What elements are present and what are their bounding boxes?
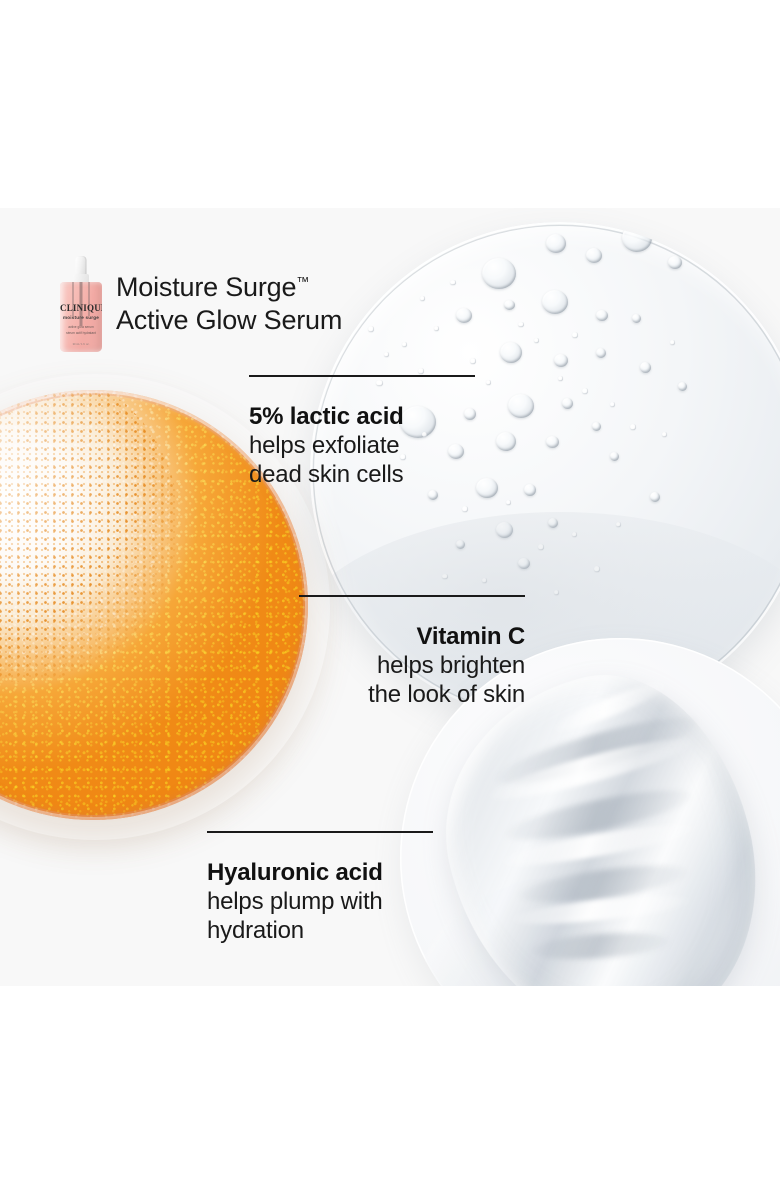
bottle-product-label: moisture surge [60,316,102,321]
bottle-brand-label: CLINIQUE [60,304,102,313]
content-stage: CLINIQUE moisture surge active glow seru… [0,208,780,986]
serum-bottle-image: CLINIQUE moisture surge active glow seru… [60,256,102,352]
product-title-line2: Active Glow Serum [116,305,342,335]
callout-title: Hyaluronic acid [207,859,433,888]
product-infographic: CLINIQUE moisture surge active glow seru… [0,0,780,1196]
callout-divider [299,595,525,597]
callout-desc-line1: helps plump with [207,888,433,917]
bottle-cap [76,256,87,276]
callout-title: 5% lactic acid [249,403,475,432]
bottle-sub-label-fr: sérum actif hydratant [60,332,102,335]
callout-divider [249,375,475,377]
callout-desc-line1: helps exfoliate [249,432,475,461]
trademark-symbol: ™ [296,274,309,289]
bottle-body: CLINIQUE moisture surge active glow seru… [60,282,102,352]
product-header: CLINIQUE moisture surge active glow seru… [60,256,342,352]
callout-desc-line2: dead skin cells [249,461,475,490]
callout-hyaluronic-acid: Hyaluronic acid helps plump with hydrati… [207,831,433,945]
product-title: Moisture Surge™ Active Glow Serum [116,271,342,338]
bottle-sub-label-en: active glow serum [60,326,102,329]
callout-divider [207,831,433,833]
callout-lactic-acid: 5% lactic acid helps exfoliate dead skin… [249,375,475,489]
bottle-volume-label: 30 ml / 1 fl. oz. [60,344,102,347]
callout-title: Vitamin C [299,623,525,652]
callout-vitamin-c: Vitamin C helps brighten the look of ski… [299,595,525,709]
product-title-line1: Moisture Surge [116,272,296,302]
callout-desc-line2: the look of skin [299,681,525,710]
callout-desc-line1: helps brighten [299,652,525,681]
callout-desc-line2: hydration [207,917,433,946]
